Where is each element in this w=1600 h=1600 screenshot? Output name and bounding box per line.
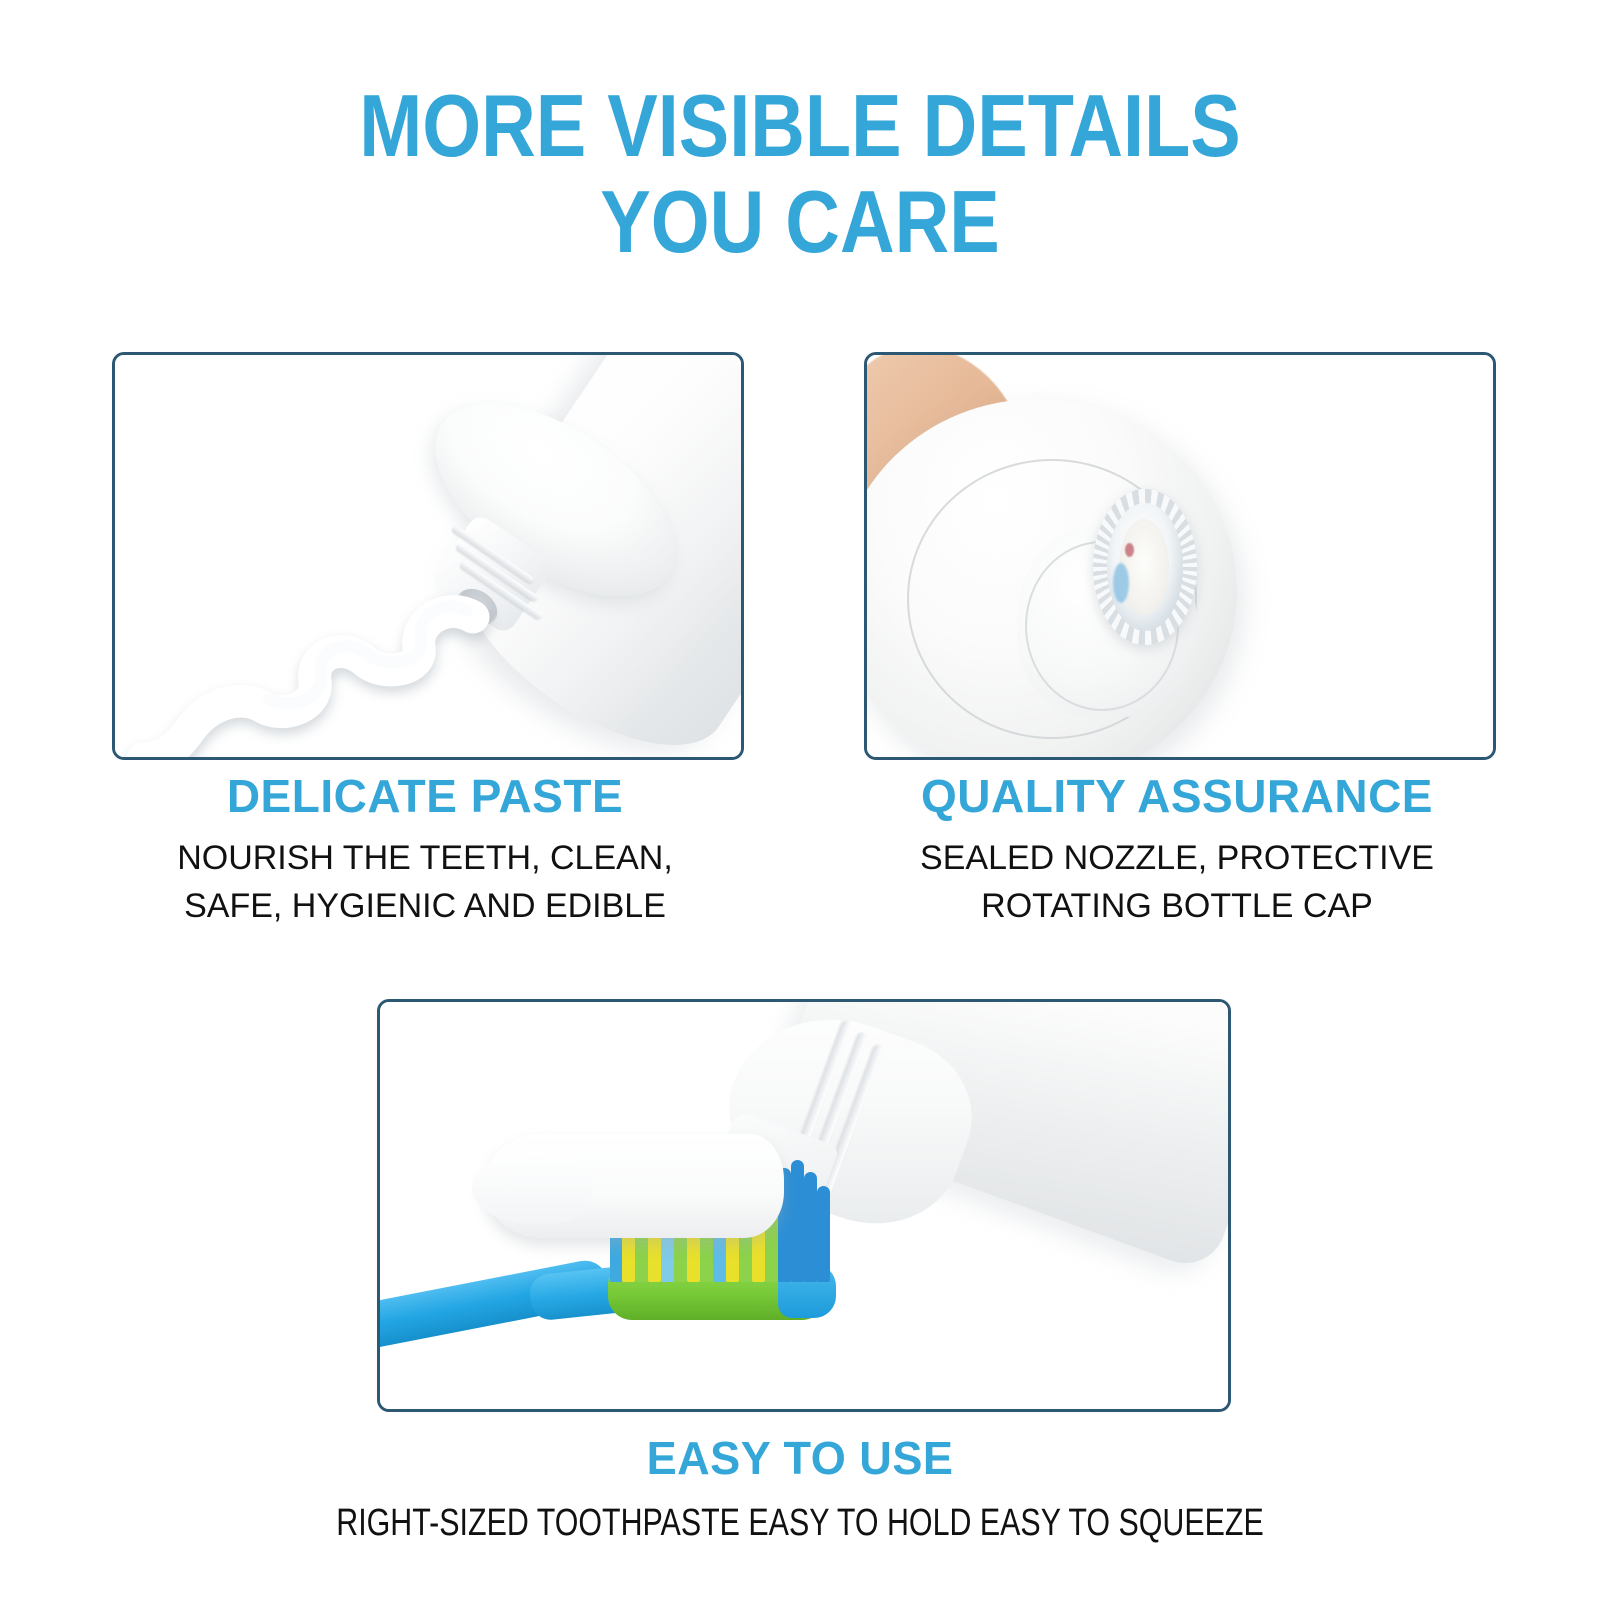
caption-easy-to-use: EASY TO USE RIGHT-SIZED TOOTHPASTE EASY … bbox=[200, 1432, 1400, 1546]
nozzle-highlight-red bbox=[1125, 543, 1134, 557]
toothpaste-tube-illustration bbox=[115, 355, 741, 757]
bottle-cap-closeup-illustration bbox=[867, 355, 1493, 757]
toothbrush-illustration bbox=[380, 1002, 1228, 1409]
panel-title-easy-to-use: EASY TO USE bbox=[212, 1432, 1388, 1484]
nozzle-highlight-blue bbox=[1113, 563, 1129, 603]
panel-title-delicate-paste: DELICATE PASTE bbox=[112, 770, 738, 822]
sealed-nozzle-opening bbox=[1119, 519, 1169, 615]
panel-body-delicate-paste: NOURISH THE TEETH, CLEAN, SAFE, HYGIENIC… bbox=[112, 834, 738, 930]
panel-delicate-paste-image bbox=[112, 352, 744, 760]
panel-body-quality-assurance: SEALED NOZZLE, PROTECTIVE ROTATING BOTTL… bbox=[864, 834, 1490, 930]
paste-on-brush-tip bbox=[472, 1152, 592, 1224]
panel-title-quality-assurance: QUALITY ASSURANCE bbox=[864, 770, 1490, 822]
caption-delicate-paste: DELICATE PASTE NOURISH THE TEETH, CLEAN,… bbox=[112, 770, 738, 930]
panel-easy-to-use-image bbox=[377, 999, 1231, 1412]
bristle bbox=[804, 1172, 817, 1282]
page-title: MORE VISIBLE DETAILS YOU CARE bbox=[112, 78, 1488, 270]
bristle bbox=[817, 1186, 830, 1282]
panel-quality-assurance-image bbox=[864, 352, 1496, 760]
panel-body-easy-to-use: RIGHT-SIZED TOOTHPASTE EASY TO HOLD EASY… bbox=[320, 1500, 1280, 1546]
infographic-page: MORE VISIBLE DETAILS YOU CARE DELICATE P… bbox=[0, 0, 1600, 1600]
bristle bbox=[791, 1160, 804, 1282]
caption-quality-assurance: QUALITY ASSURANCE SEALED NOZZLE, PROTECT… bbox=[864, 770, 1490, 930]
